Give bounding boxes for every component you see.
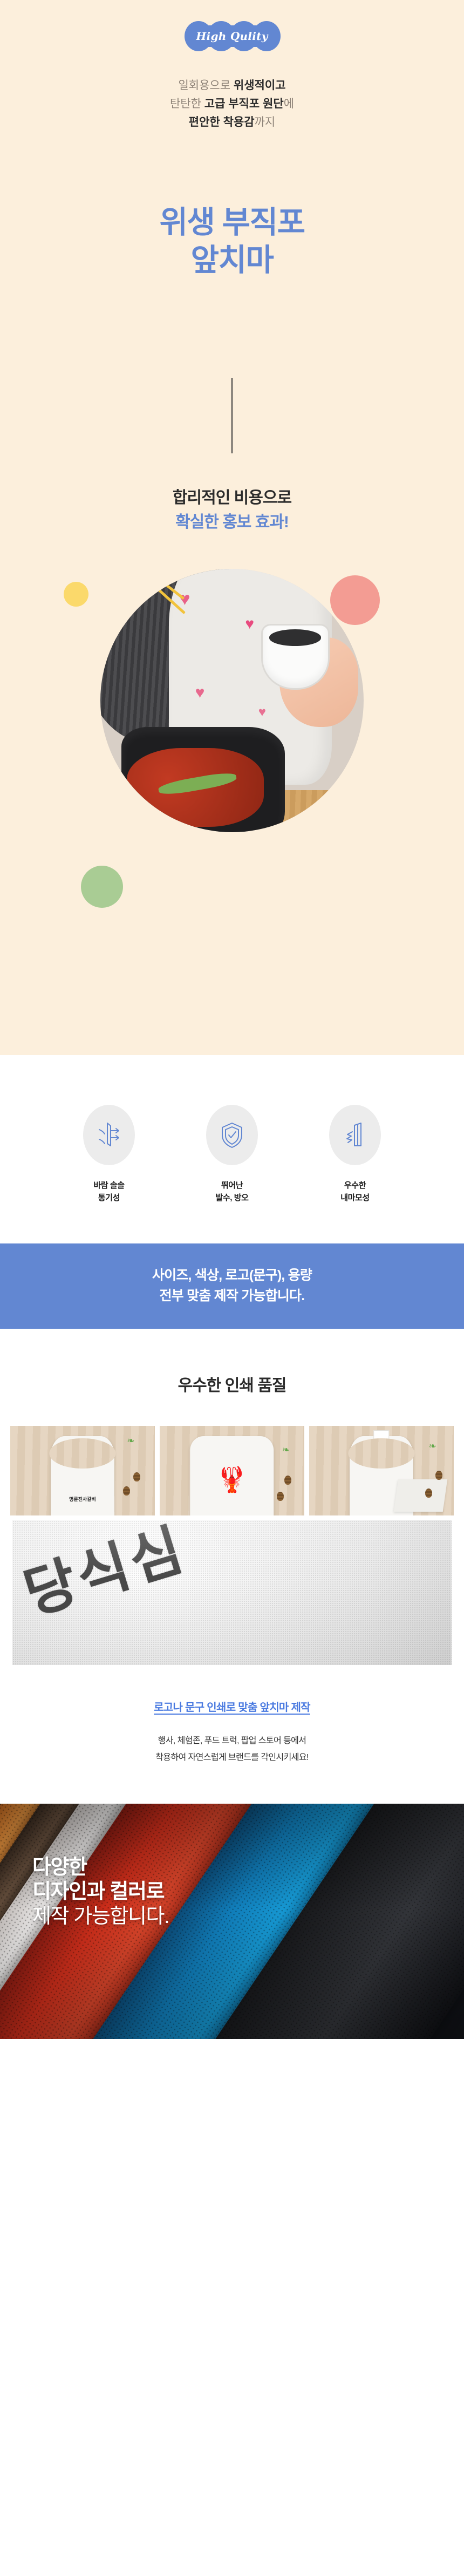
customization-banner: 사이즈, 색상, 로고(문구), 용량 전부 맞춤 제작 가능합니다. [0,1243,464,1329]
vertical-divider [231,378,233,453]
heart-icon: ♥ [258,706,266,719]
quality-badge-label: High Qulity [196,30,268,43]
air-flow-icon [97,1121,121,1149]
closeup-printed-text: 당식심 [13,1520,194,1630]
photo-wood-table [274,790,364,832]
hero-product-photo: ♥ ♥ ♥ ♥ ♥ [100,569,364,832]
quality-badge: High Qulity [185,21,279,51]
feature-icon-circle [83,1105,135,1165]
thumbnail-plain-white-bib: ❧ [309,1426,454,1515]
product-thumbnail-row: 명륜진사갈비 ❧ 🦞 ❧ ❧ [0,1426,464,1515]
fabric-print-closeup-photo: 당식심 [12,1520,452,1665]
pinecone-decor [425,1488,432,1498]
feature-label: 바람 솔솔 통기성 [69,1179,149,1205]
page-title-line-2: 앞치마 [0,242,464,280]
leaf-icon: ❧ [429,1442,436,1451]
features-section: 바람 솔솔 통기성 뛰어난 발수, 방오 [0,1055,464,1243]
print-body-line-2: 착용하여 자연스럽게 브랜드를 각인시키세요! [0,1749,464,1766]
hero-lead-2-bold: 고급 부직포 원단 [204,98,284,110]
hero-lead-line-1: 일회용으로 위생적이고 [0,77,464,95]
print-quality-title: 우수한 인쇄 품질 [0,1372,464,1396]
fabric-colors-headline: 다양한 디자인과 컬러로 제작 가능합니다. [32,1855,169,1929]
fabric-headline-line-3: 제작 가능합니다. [32,1905,169,1929]
folded-bib-stack [394,1479,448,1512]
feature-label-line-2: 내마모성 [315,1192,395,1204]
hero-lead-1-thin: 일회용으로 [178,79,233,92]
pinecone-decor [123,1486,130,1496]
hero-lead-1-bold: 위생적이고 [234,79,286,92]
feature-water-stain-resistance: 뛰어난 발수, 방오 [192,1105,272,1205]
feature-label-line-1: 우수한 [315,1179,395,1192]
print-body-line-1: 행사, 체험존, 푸드 트럭, 팝업 스토어 등에서 [0,1732,464,1749]
hero-subheadline-line-1: 합리적인 비용으로 [0,486,464,510]
hero-lead-copy: 일회용으로 위생적이고 탄탄한 고급 부직포 원단에 편안한 착용감까지 [0,77,464,132]
hero-lead-line-3: 편안한 착용감까지 [0,113,464,132]
feature-breathability: 바람 솔솔 통기성 [69,1105,149,1205]
pinecone-decor [133,1472,140,1481]
heart-icon: ♥ [245,616,254,631]
hero-lead-2-thin: 탄탄한 [170,98,204,110]
feature-label-line-1: 뛰어난 [192,1179,272,1192]
feature-label: 우수한 내마모성 [315,1179,395,1205]
heart-icon: ♥ [195,685,205,701]
pinecone-decor [277,1492,284,1501]
feature-label-line-2: 발수, 방오 [192,1192,272,1204]
feature-label-line-2: 통기성 [69,1192,149,1204]
fabric-headline-line-1: 다양한 [32,1855,169,1880]
hero-subheadline-line-2: 확실한 홍보 효과! [0,510,464,534]
thumbnail-bib-with-logo: 명륜진사갈비 ❧ [10,1426,155,1515]
photo-bowl [261,624,330,690]
banner-line-2: 전부 맞춤 제작 가능합니다. [160,1286,305,1307]
hero-lead-3-bold: 편안한 착용감 [189,116,255,128]
feature-icon-circle [329,1105,381,1165]
thumbnail-bib-with-lobster: 🦞 ❧ [160,1426,304,1515]
lobster-graphic-icon: 🦞 [216,1467,247,1492]
pinecone-decor [435,1471,442,1480]
leaf-icon: ❧ [282,1445,290,1454]
hero-subheadline: 합리적인 비용으로 확실한 홍보 효과! [0,486,464,534]
pinecone-decor [284,1476,291,1485]
hero-photo-inner: ♥ ♥ ♥ ♥ ♥ [100,569,364,832]
feature-icon-circle [206,1105,258,1165]
feature-abrasion-resistance: 우수한 내마모성 [315,1105,395,1205]
fabric-colors-section: 다양한 디자인과 컬러로 제작 가능합니다. [0,1804,464,2039]
fabric-headline-line-2: 디자인과 컬러로 [32,1880,169,1905]
decorative-dot-green [81,866,123,908]
hero-section: High Qulity 일회용으로 위생적이고 탄탄한 고급 부직포 원단에 편… [0,0,464,1055]
custom-print-link[interactable]: 로고나 문구 인쇄로 맞춤 앞치마 제작 [154,1702,310,1714]
feature-label: 뛰어난 발수, 방오 [192,1179,272,1205]
print-quality-section: 우수한 인쇄 품질 명륜진사갈비 ❧ 🦞 ❧ [0,1329,464,1804]
feature-label-line-1: 바람 솔솔 [69,1179,149,1192]
page-title: 위생 부직포 앞치마 [0,204,464,279]
shield-check-icon [220,1121,244,1149]
decorative-dot-yellow [64,582,88,607]
heart-icon: ♥ [179,590,190,608]
hero-lead-line-2: 탄탄한 고급 부직포 원단에 [0,95,464,113]
quality-badge-wrapper: High Qulity [0,19,464,53]
abrasion-resistance-icon [343,1121,367,1149]
print-caption: 로고나 문구 인쇄로 맞춤 앞치마 제작 [0,1698,464,1714]
leaf-icon: ❧ [127,1436,134,1445]
product-detail-page: High Qulity 일회용으로 위생적이고 탄탄한 고급 부직포 원단에 편… [0,0,464,2039]
hero-lead-2-tail: 에 [284,98,294,110]
banner-line-1: 사이즈, 색상, 로고(문구), 용량 [152,1266,312,1286]
bib-print-text: 명륜진사갈비 [69,1496,96,1503]
hero-lead-3-tail: 까지 [255,116,276,128]
print-body-copy: 행사, 체험존, 푸드 트럭, 팝업 스토어 등에서 착용하여 자연스럽게 브랜… [0,1732,464,1766]
features-row: 바람 솔솔 통기성 뛰어난 발수, 방오 [0,1105,464,1205]
page-title-line-1: 위생 부직포 [0,204,464,242]
